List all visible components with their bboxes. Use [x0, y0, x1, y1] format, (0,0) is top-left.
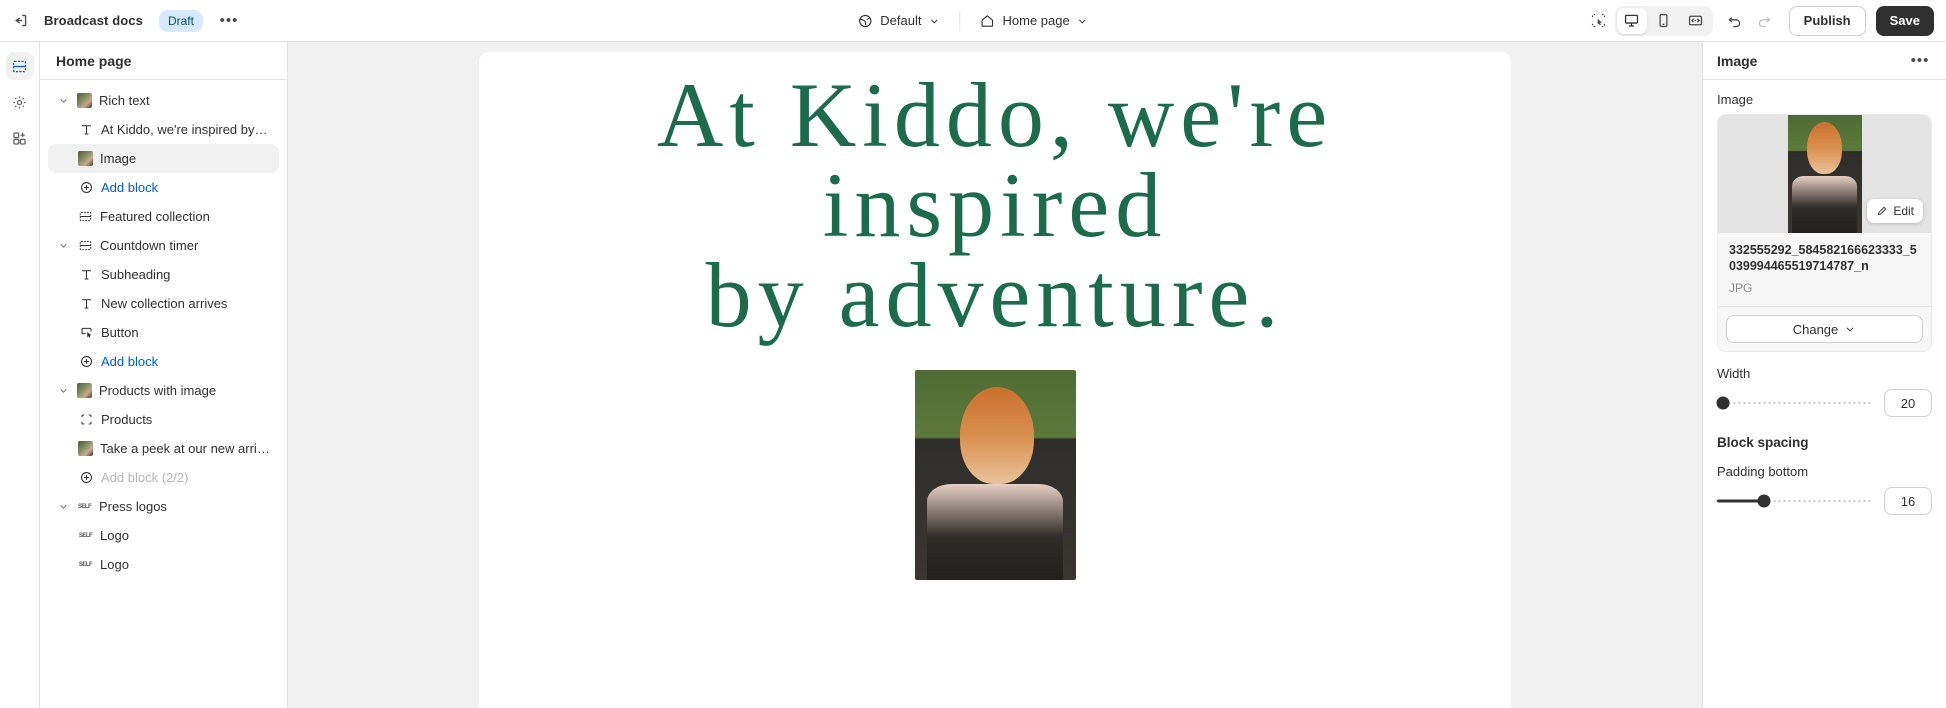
image-thumb [77, 93, 92, 108]
layer-item-label: Add block [101, 180, 158, 195]
layer-item-label: Products [101, 412, 152, 427]
properties-more-icon[interactable]: ••• [1906, 47, 1934, 75]
padding-bottom-input[interactable] [1884, 487, 1932, 515]
padding-bottom-slider-row [1717, 487, 1932, 515]
products-icon [78, 412, 94, 428]
page-preview[interactable]: At Kiddo, we're inspired by adventure. [479, 52, 1511, 708]
properties-title: Image [1717, 53, 1757, 69]
width-slider-knob[interactable] [1717, 397, 1730, 410]
top-bar-right: Publish Save [1585, 6, 1934, 36]
hero-image-wrap [479, 370, 1511, 580]
add-block-button: Add block (2/2) [48, 463, 279, 492]
logo-thumb: SELF [78, 528, 93, 543]
layer-item-label: Rich text [99, 93, 150, 108]
chevron-down-icon [1844, 323, 1856, 335]
hero-image[interactable] [915, 370, 1076, 580]
editor-body: Home page Rich textAt Kiddo, we're inspi… [0, 42, 1946, 708]
media-footer: Change [1718, 306, 1931, 351]
chevron-down-icon[interactable] [56, 95, 70, 106]
logo-thumb: SELF [78, 557, 93, 572]
media-thumbnail [1788, 115, 1862, 233]
top-bar-left: Broadcast docs Draft ••• [6, 7, 243, 35]
layer-item-label: Logo [100, 557, 129, 572]
chevron-down-icon [928, 15, 940, 27]
width-slider-row [1717, 389, 1932, 417]
left-icon-rail [0, 42, 40, 708]
image-thumb [77, 383, 92, 398]
layer-item[interactable]: SELFLogo [48, 521, 279, 550]
theme-selector[interactable]: Default [848, 7, 949, 35]
layer-item[interactable]: Rich text [48, 86, 279, 115]
undo-icon[interactable] [1721, 7, 1749, 35]
layer-item-label: Subheading [101, 267, 170, 282]
section-icon [77, 238, 93, 254]
pencil-icon [1876, 205, 1888, 217]
layers-panel-title: Home page [40, 42, 287, 80]
change-label: Change [1793, 322, 1839, 337]
chevron-down-icon [1077, 15, 1089, 27]
layer-item[interactable]: Products with image [48, 376, 279, 405]
layer-item[interactable]: Take a peek at our new arrivals [48, 434, 279, 463]
layer-item-label: Press logos [99, 499, 167, 514]
toolbar-divider [959, 11, 960, 31]
width-label: Width [1717, 366, 1932, 381]
add-block-button[interactable]: Add block [48, 347, 279, 376]
layer-item-label: Countdown timer [100, 238, 198, 253]
chevron-down-icon[interactable] [56, 501, 70, 512]
rail-item-apps[interactable] [6, 124, 34, 152]
width-slider[interactable] [1717, 394, 1872, 412]
text-icon [78, 267, 94, 283]
logo-thumb: SELF [77, 499, 92, 514]
edit-label: Edit [1893, 204, 1914, 218]
hero-heading-line2: by adventure. [503, 250, 1487, 340]
cursor-select-icon[interactable] [1585, 7, 1613, 35]
layer-item[interactable]: Subheading [48, 260, 279, 289]
image-field-label: Image [1717, 92, 1932, 107]
publish-button[interactable]: Publish [1789, 6, 1866, 36]
layer-item-label: At Kiddo, we're inspired by adve... [101, 122, 271, 137]
layers-list: Rich textAt Kiddo, we're inspired by adv… [40, 80, 287, 579]
rail-item-sections[interactable] [6, 52, 34, 80]
padding-bottom-slider[interactable] [1717, 492, 1872, 510]
save-button[interactable]: Save [1876, 6, 1934, 36]
layer-item-label: Button [101, 325, 139, 340]
layer-item-label: Products with image [99, 383, 216, 398]
top-bar: Broadcast docs Draft ••• Default [0, 0, 1946, 42]
more-options-icon[interactable]: ••• [215, 7, 243, 35]
padding-bottom-slider-knob[interactable] [1757, 495, 1770, 508]
home-icon [979, 13, 995, 29]
properties-panel: Image ••• Image Edit [1702, 42, 1946, 708]
plus-circle-icon [78, 470, 94, 486]
text-icon [78, 296, 94, 312]
block-spacing-title: Block spacing [1717, 435, 1932, 450]
theme-editor-app: Broadcast docs Draft ••• Default [0, 0, 1946, 708]
plus-circle-icon [78, 180, 94, 196]
page-selector[interactable]: Home page [970, 7, 1097, 35]
layers-panel: Home page Rich textAt Kiddo, we're inspi… [40, 42, 288, 708]
exit-icon[interactable] [6, 7, 34, 35]
media-file-type: JPG [1729, 281, 1920, 295]
layer-item[interactable]: SELFPress logos [48, 492, 279, 521]
layer-item[interactable]: Countdown timer [48, 231, 279, 260]
change-image-button[interactable]: Change [1726, 315, 1923, 343]
media-meta: 332555292_584582166623333_50399944655197… [1718, 233, 1931, 306]
status-badge: Draft [159, 10, 203, 32]
layer-item-label: Add block [101, 354, 158, 369]
document-title: Broadcast docs [44, 13, 143, 28]
layer-item-label: Take a peek at our new arrivals [100, 441, 271, 456]
plus-circle-icon [78, 354, 94, 370]
globe-icon [857, 13, 873, 29]
redo-icon[interactable] [1751, 7, 1779, 35]
edit-image-button[interactable]: Edit [1867, 199, 1923, 223]
section-icon [77, 209, 93, 225]
layer-item-label: New collection arrives [101, 296, 227, 311]
width-slider-track [1717, 402, 1872, 405]
hero-heading: At Kiddo, we're inspired by adventure. [479, 70, 1511, 340]
image-thumb [78, 151, 93, 166]
chevron-down-icon[interactable] [56, 240, 70, 251]
button-icon [78, 325, 94, 341]
layer-item[interactable]: New collection arrives [48, 289, 279, 318]
media-card: Edit 332555292_584582166623333_503999446… [1717, 114, 1932, 352]
width-input[interactable] [1884, 389, 1932, 417]
theme-selector-label: Default [880, 13, 921, 28]
top-bar-center: Default Home page [848, 7, 1097, 35]
properties-header: Image ••• [1703, 42, 1946, 80]
canvas-area: At Kiddo, we're inspired by adventure. [288, 42, 1702, 708]
layer-item-label: Add block (2/2) [101, 470, 188, 485]
media-file-name: 332555292_584582166623333_50399944655197… [1729, 242, 1920, 274]
chevron-down-icon[interactable] [56, 385, 70, 396]
add-block-button[interactable]: Add block [48, 173, 279, 202]
page-selector-label: Home page [1002, 13, 1069, 28]
rail-item-settings[interactable] [6, 88, 34, 116]
properties-body: Image Edit [1703, 80, 1946, 527]
layer-item-label: Featured collection [100, 209, 210, 224]
layer-item[interactable]: SELFLogo [48, 550, 279, 579]
layer-item[interactable]: Featured collection [48, 202, 279, 231]
text-icon [78, 122, 94, 138]
mobile-icon[interactable] [1649, 8, 1679, 34]
padding-bottom-label: Padding bottom [1717, 464, 1932, 479]
layer-item-label: Logo [100, 528, 129, 543]
media-preview[interactable]: Edit [1718, 115, 1931, 233]
layer-item-label: Image [100, 151, 136, 166]
layer-item[interactable]: Button [48, 318, 279, 347]
hero-heading-line1: At Kiddo, we're inspired [503, 70, 1487, 250]
layer-item[interactable]: At Kiddo, we're inspired by adve... [48, 115, 279, 144]
desktop-icon[interactable] [1617, 8, 1647, 34]
view-mode-group [1615, 6, 1713, 36]
image-thumb [78, 441, 93, 456]
fullwidth-icon[interactable] [1681, 8, 1711, 34]
layer-item[interactable]: Image [48, 144, 279, 173]
layer-item[interactable]: Products [48, 405, 279, 434]
